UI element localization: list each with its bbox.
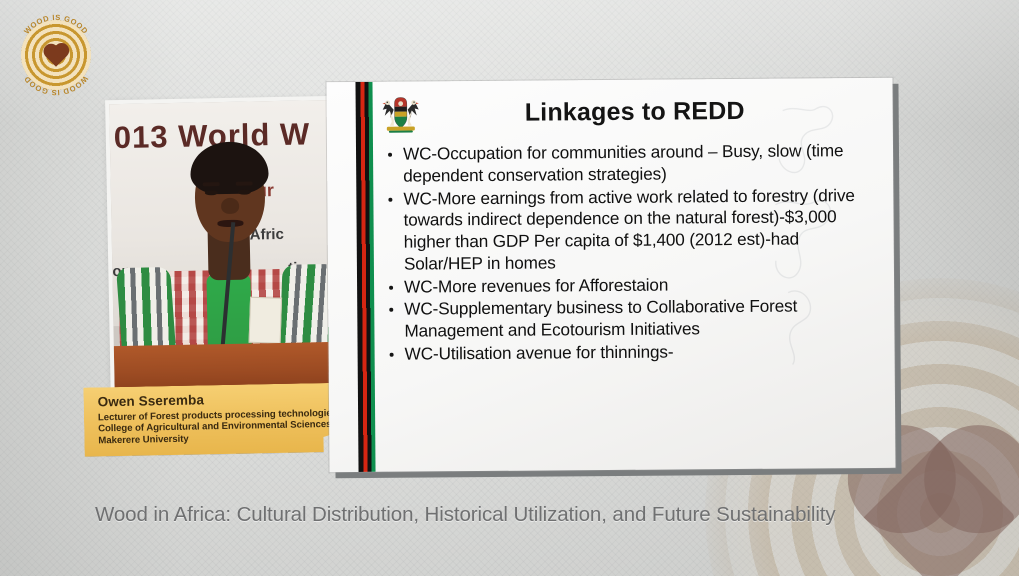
slide-bullet: WC-Utilisation avenue for thinnings- — [385, 340, 881, 366]
slide-title: Linkages to REDD — [421, 95, 883, 128]
speaker-nose — [221, 198, 239, 214]
speaker-photo: 013 World W posiur Afric on tio — [105, 96, 347, 407]
slide-bullet-list: WC-Occupation for communities around – B… — [383, 140, 881, 366]
slide-bullet: WC-More earnings from active work relate… — [383, 184, 880, 275]
speaker-vest-left — [116, 267, 176, 354]
wood-is-good-logo: WOOD IS GOOD WOOD IS GOOD — [13, 12, 99, 98]
uganda-flag-stripe — [355, 82, 375, 472]
speaker-eyebrow-left — [203, 182, 220, 186]
presentation-slide: Linkages to REDD WC-Occupation for commu… — [326, 78, 895, 472]
slide-bullet: WC-Occupation for communities around – B… — [383, 140, 879, 187]
speaker-caption: Owen Sseremba Lecturer of Forest product… — [83, 382, 362, 457]
slide-bullet: WC-Supplementary business to Collaborati… — [384, 295, 880, 342]
logo-arc-bottom-text: WOOD IS GOOD — [22, 74, 90, 97]
speaker-eyebrow-right — [236, 181, 253, 185]
logo-arc-top-text: WOOD IS GOOD — [22, 13, 90, 36]
video-frame: WOOD IS GOOD WOOD IS GOOD 013 World W po… — [0, 0, 1019, 576]
speaker-photo-image: 013 World W posiur Afric on tio — [109, 100, 343, 404]
uganda-coat-of-arms-icon — [381, 91, 421, 135]
slide-header: Linkages to REDD — [379, 82, 883, 142]
speaker-badge — [249, 297, 283, 344]
slide-bullet: WC-More revenues for Afforestaion — [384, 272, 880, 298]
logo-text-ring: WOOD IS GOOD WOOD IS GOOD — [13, 12, 99, 98]
speaker-role: Lecturer of Forest products processing t… — [98, 407, 351, 448]
